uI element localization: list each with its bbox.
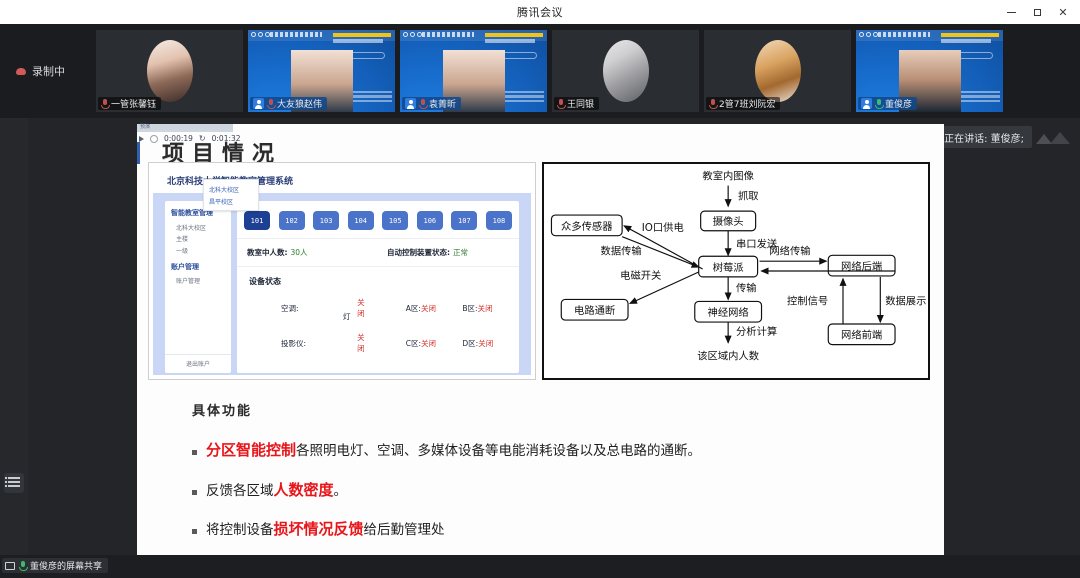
video-tile-1[interactable]: 一管张馨钰	[96, 30, 243, 112]
diagram-svg: 教室内图像 抓取 摄像头 串口发送 众多传感器 树莓派 IO口供电 数据传输 电…	[544, 164, 928, 378]
close-icon[interactable]: ✕	[1050, 0, 1076, 24]
video-tile-4[interactable]: 王同银	[552, 30, 699, 112]
minimize-icon[interactable]	[998, 0, 1024, 24]
bullet-3-pre: 将控制设备	[206, 522, 274, 538]
system-screenshot: 北京科技大学智能教室管理系统 智能教室管理 北科大校区 主楼 一级 账户管理 账…	[148, 162, 536, 380]
diagram-node-count: 该区域内人数	[697, 349, 759, 362]
room-button-108[interactable]: 108	[486, 211, 512, 230]
zone-c: C区:关闭	[406, 338, 463, 349]
zone-d: D区:关闭	[462, 338, 519, 349]
event-banner-text	[941, 33, 999, 45]
list-item: 将控制设备损坏情况反馈给后勤管理处	[192, 521, 701, 539]
participant-name: 董俊彦	[885, 97, 912, 110]
footer-text	[498, 91, 544, 105]
user-icon	[405, 98, 416, 109]
stat-value-occupancy: 30人	[291, 248, 308, 257]
room-button-106[interactable]: 106	[417, 211, 443, 230]
room-button-105[interactable]: 105	[382, 211, 408, 230]
video-tile-3[interactable]: 袁菁昕	[400, 30, 547, 112]
lamp-label: 灯	[343, 311, 351, 322]
list-item: 反馈各区域人数密度。	[192, 482, 701, 500]
bullet-icon	[192, 529, 197, 534]
zone-d-label: D区:	[462, 339, 478, 348]
bullet-3-highlight: 损坏情况反馈	[274, 520, 364, 538]
bullet-1-rest: 各照明电灯、空调、多媒体设备等电能消耗设备以及总电路的通断。	[296, 443, 701, 459]
participant-name-bar: 袁菁昕	[402, 97, 461, 110]
diagram-node-nn: 神经网络	[708, 306, 749, 319]
diagram-edge-data: 数据传输	[601, 244, 643, 257]
recording-label: 录制中	[32, 63, 65, 79]
video-tiles: 一管张馨钰大友狼赵伟袁菁昕王同银2管7班刘阮宏董俊彦	[96, 30, 1003, 112]
screen-share-indicator: 董俊彦的屏幕共享	[2, 558, 108, 573]
diagram-edge-io: IO口供电	[642, 221, 684, 234]
room-button-101[interactable]: 101	[244, 211, 270, 230]
sidebar-item-account[interactable]: 账户管理	[165, 274, 231, 286]
stat-label-autoctrl: 自动控制装置状态:	[387, 248, 450, 257]
bullet-2-pre: 反馈各区域	[206, 483, 274, 499]
list-item: 分区智能控制各照明电灯、空调、多媒体设备等电能消耗设备以及总电路的通断。	[192, 442, 701, 460]
maximize-icon[interactable]	[1024, 0, 1050, 24]
user-icon	[253, 98, 264, 109]
device-projector-state: 关闭	[357, 332, 372, 354]
diagram-edge-net: 网络传输	[769, 244, 811, 257]
zone-c-state: 关闭	[421, 339, 436, 348]
participant-name-bar: 2管7班刘阮宏	[706, 97, 780, 110]
dropdown-option-1[interactable]: 北科大校区	[204, 183, 258, 195]
zone-b: B区:关闭	[462, 303, 519, 314]
presentation-slide: 预演 0:00:19 ↻ 0:01:32 项目情况 北京科技大学智能教室管理系统…	[137, 124, 944, 555]
sidebar-item-floor[interactable]: 一级	[165, 243, 231, 255]
speaking-label: 正在讲话: 董俊彦;	[944, 130, 1024, 145]
org-name-text	[270, 32, 322, 37]
participant-name: 2管7班刘阮宏	[719, 97, 775, 110]
event-banner-text	[333, 33, 391, 45]
participant-name-bar: 董俊彦	[858, 97, 917, 110]
device-ac-state: 关闭	[357, 297, 372, 319]
window-title-bar: 腾讯会议 ✕	[0, 0, 1080, 24]
watcher-logo-icon	[1034, 128, 1074, 148]
stop-icon[interactable]	[150, 135, 158, 143]
video-tile-2[interactable]: 大友狼赵伟	[248, 30, 395, 112]
bullet-icon	[192, 490, 197, 495]
zone-b-label: B区:	[462, 304, 477, 313]
bullet-2-highlight: 人数密度	[274, 481, 334, 499]
left-rail	[0, 118, 28, 555]
media-progress-bar[interactable]: 预演	[137, 124, 233, 132]
bullet-1-highlight: 分区智能控制	[206, 441, 296, 459]
microphone-icon	[101, 99, 108, 109]
room-button-102[interactable]: 102	[279, 211, 305, 230]
zone-d-state: 关闭	[478, 339, 493, 348]
diagram-edge-capture: 抓取	[738, 189, 759, 202]
recording-icon	[16, 68, 26, 75]
screenshot-sidebar: 智能教室管理 北科大校区 主楼 一级 账户管理 账户管理 退出账户	[165, 201, 231, 373]
diagram-node-cam: 摄像头	[713, 215, 744, 228]
video-tile-6[interactable]: 董俊彦	[856, 30, 1003, 112]
window-controls: ✕	[998, 0, 1076, 24]
avatar	[603, 40, 649, 102]
participant-name: 一管张馨钰	[111, 97, 156, 110]
bullet-text-3: 将控制设备损坏情况反馈给后勤管理处	[206, 521, 445, 539]
avatar	[755, 40, 801, 102]
participant-name: 大友狼赵伟	[277, 97, 322, 110]
window-title: 腾讯会议	[517, 4, 563, 20]
zone-a: A区:关闭	[406, 303, 463, 314]
device-status-grid: 灯 空调:关闭 A区:关闭 B区:关闭 投影仪:关闭 C区:关闭 D区:关闭	[237, 287, 519, 354]
table-row: 空调:关闭 A区:关闭 B区:关闭	[237, 297, 519, 319]
bullet-icon	[192, 450, 197, 455]
media-label: 预演	[140, 123, 150, 130]
footer-text	[954, 91, 1000, 105]
org-logo-icon	[403, 32, 422, 37]
recording-indicator: 录制中	[0, 63, 96, 79]
bullet-text-1: 分区智能控制各照明电灯、空调、多媒体设备等电能消耗设备以及总电路的通断。	[206, 442, 701, 460]
bullet-3-post: 给后勤管理处	[364, 522, 445, 538]
diagram-node-frontend: 网络前端	[841, 329, 882, 342]
org-name-text	[422, 32, 474, 37]
zone-a-state: 关闭	[421, 304, 436, 313]
participant-video-strip: 录制中 一管张馨钰大友狼赵伟袁菁昕王同银2管7班刘阮宏董俊彦	[0, 24, 1080, 118]
microphone-icon	[709, 99, 716, 109]
table-row: 投影仪:关闭 C区:关闭 D区:关闭	[237, 332, 519, 354]
diagram-edge-control: 控制信号	[787, 294, 828, 307]
room-button-103[interactable]: 103	[313, 211, 339, 230]
title-accent-bar	[137, 142, 147, 164]
microphone-icon	[557, 99, 564, 109]
device-projector-label: 投影仪:	[281, 338, 357, 349]
sidebar-item-building[interactable]: 主楼	[165, 232, 231, 244]
microphone-icon	[875, 99, 882, 109]
zone-c-label: C区:	[406, 339, 421, 348]
dropdown-option-2[interactable]: 昌平校区	[204, 195, 258, 207]
stat-label-occupancy: 教室中人数:	[247, 248, 288, 257]
diagram-node-rpi: 树莓派	[713, 261, 744, 274]
diagram-edge-transmit: 传输	[736, 282, 757, 295]
diagram-edge-relay: 电磁开关	[620, 269, 661, 282]
architecture-diagram: 教室内图像 抓取 摄像头 串口发送 众多传感器 树莓派 IO口供电 数据传输 电…	[542, 162, 930, 380]
diagram-edge-display: 数据展示	[885, 294, 926, 307]
diagram-node-img: 教室内图像	[702, 170, 753, 183]
video-tile-5[interactable]: 2管7班刘阮宏	[704, 30, 851, 112]
bullet-2-post: 。	[334, 483, 348, 499]
zone-b-state: 关闭	[478, 304, 493, 313]
features-heading: 具体功能	[192, 400, 252, 419]
bullet-text-2: 反馈各区域人数密度。	[206, 482, 347, 500]
bottom-status-bar: 董俊彦的屏幕共享	[0, 555, 1080, 578]
participant-name: 袁菁昕	[429, 97, 456, 110]
participant-name: 王同银	[567, 97, 594, 110]
stat-value-autoctrl: 正常	[453, 248, 468, 257]
diagram-node-circuit: 电路通断	[574, 304, 615, 317]
participant-name-bar: 大友狼赵伟	[250, 97, 327, 110]
room-button-107[interactable]: 107	[451, 211, 477, 230]
org-logo-icon	[251, 32, 270, 37]
diagram-node-sensors: 众多传感器	[561, 220, 612, 233]
room-selector: 101102103104105106107108	[237, 201, 519, 239]
screen-share-icon	[5, 562, 15, 570]
org-name-text	[878, 32, 930, 37]
user-icon	[861, 98, 872, 109]
screenshot-main-panel: 101102103104105106107108 教室中人数:30人 自动控制装…	[237, 201, 519, 373]
screen-share-label: 董俊彦的屏幕共享	[30, 559, 102, 572]
diagram-edge-analysis: 分析计算	[736, 325, 777, 338]
sidebar-group-title-2: 账户管理	[165, 255, 231, 274]
logout-button[interactable]: 退出账户	[165, 354, 231, 368]
org-logo-icon	[859, 32, 878, 37]
footer-text	[346, 91, 392, 105]
room-stats: 教室中人数:30人 自动控制装置状态:正常	[237, 239, 519, 267]
participant-name-bar: 一管张馨钰	[98, 97, 161, 110]
campus-dropdown[interactable]: 北科大校区 昌平校区	[203, 179, 259, 211]
microphone-icon	[419, 99, 426, 109]
play-icon[interactable]	[139, 136, 144, 142]
sidebar-item-campus[interactable]: 北科大校区	[165, 220, 231, 232]
avatar	[147, 40, 193, 102]
device-status-header: 设备状态	[237, 267, 519, 287]
zone-a-label: A区:	[406, 304, 421, 313]
microphone-icon	[19, 561, 26, 571]
room-button-104[interactable]: 104	[348, 211, 374, 230]
participant-name-bar: 王同银	[554, 97, 599, 110]
features-section: 具体功能 分区智能控制各照明电灯、空调、多媒体设备等电能消耗设备以及总电路的通断…	[192, 400, 701, 539]
event-banner-text	[485, 33, 543, 45]
participant-list-icon[interactable]	[4, 473, 24, 493]
microphone-icon	[267, 99, 274, 109]
